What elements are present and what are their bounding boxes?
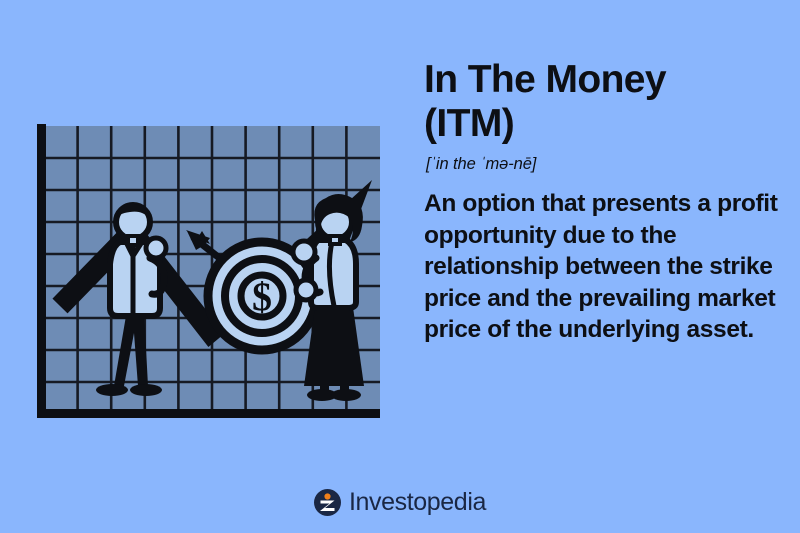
definition-card: $ [0, 0, 800, 533]
investopedia-logo-icon [314, 489, 341, 516]
page-title: In The Money(ITM) [424, 58, 786, 146]
svg-text:$: $ [252, 274, 272, 319]
investopedia-logo: Investopedia [0, 489, 800, 516]
title-line-1: In The Money [424, 58, 666, 101]
brand-name: Investopedia [349, 490, 486, 515]
title-line-2: (ITM) [424, 102, 514, 145]
pronunciation: [ˈin the ˈmə-nē] [426, 155, 786, 174]
text-column: In The Money(ITM) [ˈin the ˈmə-nē] An op… [424, 58, 786, 345]
definition-text: An option that presents a profit opportu… [424, 188, 786, 345]
in-the-money-illustration: $ [34, 118, 390, 420]
